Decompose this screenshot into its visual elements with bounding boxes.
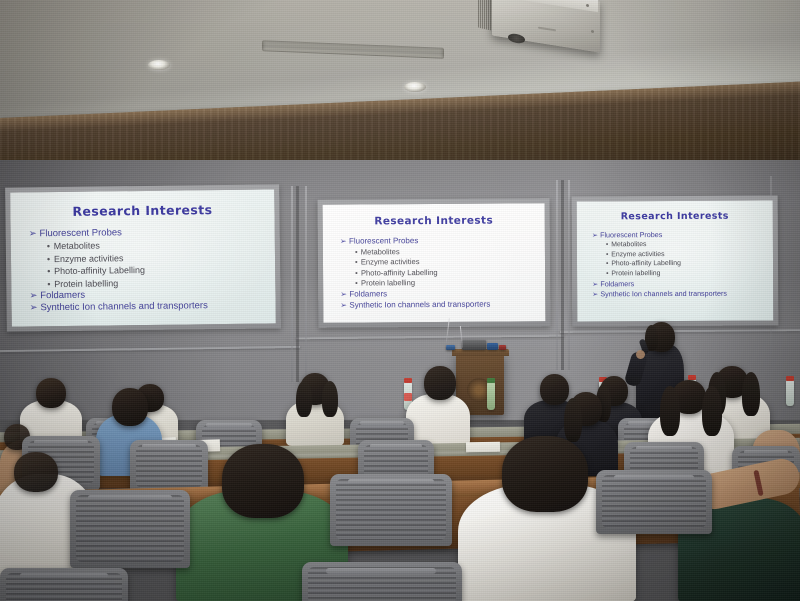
bullet-text: Synthetic Ion channels and transporters [600, 289, 727, 299]
chair [330, 474, 452, 546]
chair-top-bar [34, 440, 88, 444]
bullet-text: Metabolites [54, 240, 100, 253]
bullet-item: ➢ Synthetic Ion channels and transporter… [340, 299, 490, 311]
bottle-cap [786, 376, 794, 381]
bullet-marker-icon: • [355, 279, 358, 290]
bullet-text: Protein labelling [611, 269, 660, 279]
slide-title: Research Interests [10, 201, 274, 219]
bullet-marker-icon: • [47, 265, 50, 277]
bullet-text: Fluorescent Probes [39, 227, 122, 240]
bullet-marker-icon: ➢ [592, 289, 598, 299]
bullet-text: Enzyme activities [611, 250, 664, 260]
bullet-marker-icon: • [355, 247, 358, 258]
projector-screw [586, 4, 589, 7]
chair-top-bar [744, 450, 788, 454]
downlight-icon [148, 60, 170, 70]
chair-top-bar [142, 444, 196, 448]
bullet-marker-icon: ➢ [29, 228, 37, 241]
podium-equipment [487, 343, 498, 350]
bullet-text: Metabolites [611, 240, 646, 250]
chair-mesh-back [76, 495, 184, 562]
slide-bullet-list: ➢ Fluorescent Probes • Metabolites • Enz… [340, 236, 491, 311]
chair-top-bar [20, 573, 108, 578]
lecture-hall-photo: Research Interests ➢ Fluorescent Probes … [0, 0, 800, 601]
wall-panel-seam [296, 186, 299, 382]
bottle-cap [487, 378, 495, 383]
chair-top-bar [636, 446, 692, 450]
bottle-cap [404, 378, 412, 383]
bullet-marker-icon: • [47, 253, 50, 265]
chair-mesh-back [602, 475, 706, 528]
chair-top-bar [206, 423, 252, 427]
chair-top-bar [614, 475, 694, 480]
ceiling-projector [478, 0, 603, 56]
bullet-text: Protein labelling [54, 277, 118, 290]
chair [0, 568, 128, 601]
bullet-item: ➢ Synthetic Ion channels and transporter… [592, 289, 727, 300]
slide-title: Research Interests [577, 210, 773, 222]
bullet-marker-icon: • [355, 258, 358, 269]
bullet-marker-icon: • [47, 241, 50, 253]
bullet-text: Enzyme activities [54, 252, 124, 265]
bullet-item: ➢ Synthetic Ion channels and transporter… [30, 301, 208, 316]
bullet-marker-icon: • [606, 240, 608, 250]
slide-surface: Research Interests ➢ Fluorescent Probes … [10, 189, 276, 326]
downlight-icon [404, 82, 426, 92]
podium-equipment [462, 340, 486, 350]
bullet-marker-icon: • [606, 250, 608, 260]
chair-top-bar [88, 495, 172, 500]
bullet-text: Synthetic Ion channels and transporters [349, 299, 490, 311]
bullet-marker-icon: ➢ [340, 290, 347, 301]
bullet-text: Synthetic Ion channels and transporters [40, 301, 208, 315]
chair-mesh-back [336, 479, 446, 540]
wall-panel-seam [291, 186, 293, 382]
bullet-marker-icon: • [355, 268, 358, 279]
bullet-text: Foldamers [40, 290, 85, 303]
slide-bullet-list: ➢ Fluorescent Probes • Metabolites • Enz… [29, 226, 208, 315]
chair [596, 470, 712, 534]
bullet-text: Metabolites [361, 247, 400, 258]
projection-screen-right: Research Interests ➢ Fluorescent Probes … [577, 200, 774, 321]
bullet-text: Photo-affinity Labelling [54, 264, 145, 278]
podium-equipment [446, 345, 455, 350]
bullet-marker-icon: • [606, 260, 608, 270]
wall-panel-seam [556, 180, 558, 370]
projection-screen-center: Research Interests ➢ Fluorescent Probes … [323, 203, 546, 323]
chair-top-bar [326, 568, 436, 574]
bullet-text: Fluorescent Probes [600, 230, 662, 240]
bullet-text: Foldamers [600, 279, 634, 289]
bullet-text: Protein labelling [361, 279, 415, 290]
slide-title: Research Interests [323, 214, 545, 228]
wall-panel-seam [305, 186, 307, 382]
slide-surface: Research Interests ➢ Fluorescent Probes … [323, 203, 546, 323]
chair-top-bar [360, 421, 404, 425]
bullet-marker-icon: ➢ [592, 279, 598, 289]
bullet-text: Enzyme activities [361, 257, 420, 268]
chair-top-bar [348, 479, 434, 484]
speaker-hand [636, 350, 645, 359]
podium-equipment [499, 345, 506, 350]
bullet-marker-icon: ➢ [30, 303, 38, 316]
wall-panel-seam [561, 180, 564, 370]
bullet-marker-icon: ➢ [340, 237, 347, 248]
bottle-label [404, 393, 412, 401]
bullet-marker-icon: ➢ [29, 290, 37, 303]
bullet-marker-icon: ➢ [340, 300, 347, 311]
bullet-text: Photo-affinity Labelling [361, 268, 438, 279]
chair [302, 562, 462, 601]
bullet-text: Foldamers [349, 289, 387, 300]
bullet-marker-icon: ➢ [592, 230, 598, 240]
podium-surface [452, 349, 509, 356]
bullet-marker-icon: • [47, 278, 50, 290]
projector-screw [591, 30, 594, 33]
bullet-marker-icon: • [606, 270, 608, 280]
slide-surface: Research Interests ➢ Fluorescent Probes … [577, 200, 774, 321]
chair-mesh-back [136, 445, 202, 488]
chair [130, 440, 208, 494]
chair [70, 490, 190, 568]
projection-screen-left: Research Interests ➢ Fluorescent Probes … [10, 189, 276, 326]
wall-panel-seam [568, 180, 570, 370]
slide-bullet-list: ➢ Fluorescent Probes • Metabolites • Enz… [592, 230, 727, 299]
bullet-text: Fluorescent Probes [349, 236, 418, 247]
paper-sheet [466, 442, 500, 453]
bullet-text: Photo-affinity Labelling [611, 259, 681, 269]
chair-top-bar [370, 444, 422, 448]
